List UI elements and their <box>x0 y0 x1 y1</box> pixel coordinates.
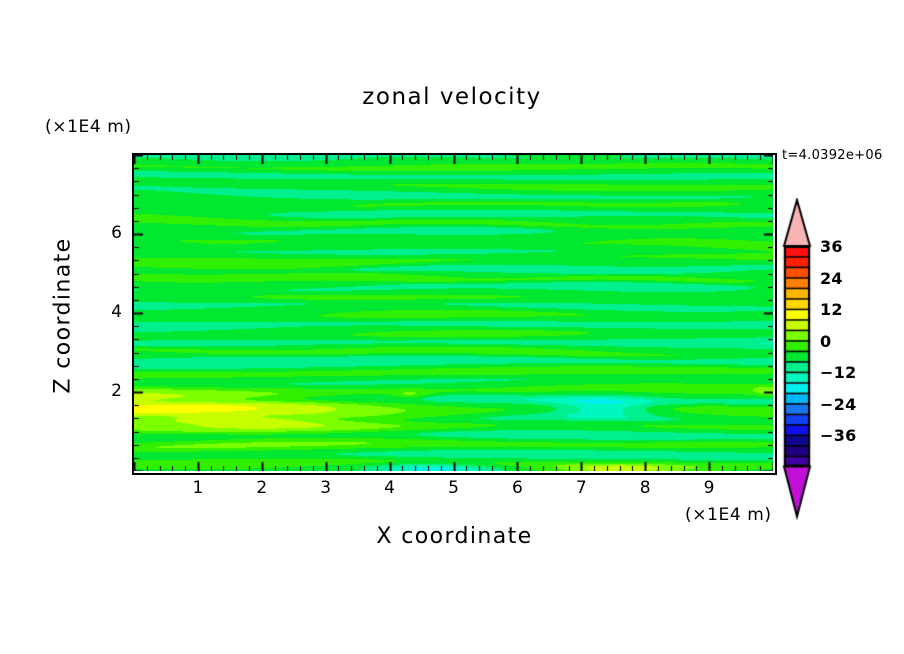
x-tick-label: 8 <box>615 478 675 498</box>
colorbar-tick-label: −12 <box>820 363 857 382</box>
x-tick-label: 6 <box>487 478 547 498</box>
y-tick-label: 4 <box>90 302 122 322</box>
y-tick-label: 6 <box>90 223 122 243</box>
page-title: zonal velocity <box>0 84 904 110</box>
colorbar-tick-label: −24 <box>820 395 857 414</box>
colorbar-tick-label: 36 <box>820 237 843 256</box>
x-tick-label: 2 <box>232 478 292 498</box>
contour-field <box>134 155 773 471</box>
y-axis-title: Z coordinate <box>51 226 76 406</box>
x-tick-label: 1 <box>168 478 228 498</box>
x-tick-label: 5 <box>424 478 484 498</box>
timestamp-annotation: t=4.0392e+06 <box>782 148 883 163</box>
y-axis-units-label: (×1E4 m) <box>45 117 132 137</box>
colorbar-tick-label: −36 <box>820 426 857 445</box>
x-tick-label: 9 <box>679 478 739 498</box>
x-tick-label: 7 <box>551 478 611 498</box>
x-tick-label: 4 <box>360 478 420 498</box>
contour-figure: zonal velocity (×1E4 m) t=4.0392e+06 123… <box>0 0 904 654</box>
x-tick-label: 3 <box>296 478 356 498</box>
x-axis-title: X coordinate <box>134 524 775 549</box>
y-tick-label: 2 <box>90 381 122 401</box>
colorbar-tick-label: 12 <box>820 300 843 319</box>
colorbar-tick-label: 24 <box>820 269 843 288</box>
x-axis-units-label: (×1E4 m) <box>685 505 772 525</box>
colorbar-tick-label: 0 <box>820 332 831 351</box>
